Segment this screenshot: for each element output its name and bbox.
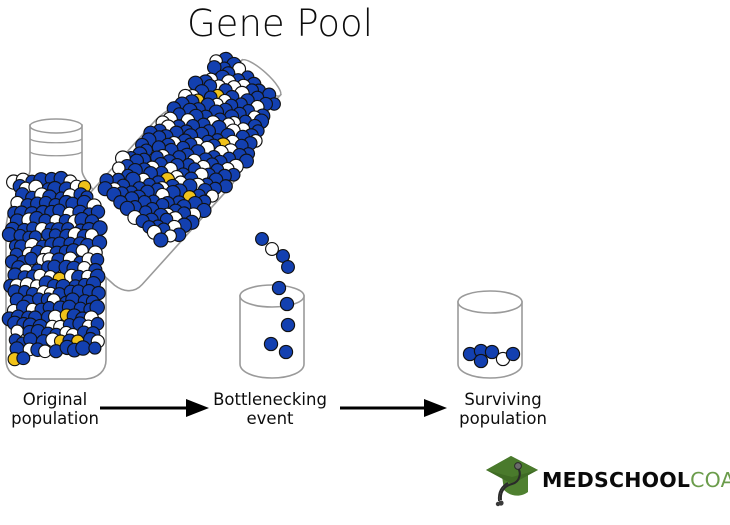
step-label-original: Original population [0,390,110,428]
arrow-2 [340,399,447,417]
step-label-surviving: Surviving population [444,390,562,428]
arrows-layer [0,0,730,525]
logo-text-light: COACH [690,468,730,492]
label-line-2: population [459,409,547,428]
graduation-cap-stethoscope-icon [484,452,540,510]
arrow-1 [100,399,209,417]
label-line-1: Bottlenecking [213,390,327,409]
diagram-canvas: Gene Pool [0,0,730,525]
label-line-2: event [247,409,294,428]
logo-text-bold: MEDSCHOOL [542,468,690,492]
label-line-2: population [11,409,99,428]
label-line-1: Surviving [464,390,541,409]
step-label-bottleneck: Bottlenecking event [204,390,336,428]
label-line-1: Original [23,390,88,409]
medschoolcoach-logo: MEDSCHOOLCOACH [484,450,724,512]
logo-wordmark: MEDSCHOOLCOACH [542,468,730,492]
